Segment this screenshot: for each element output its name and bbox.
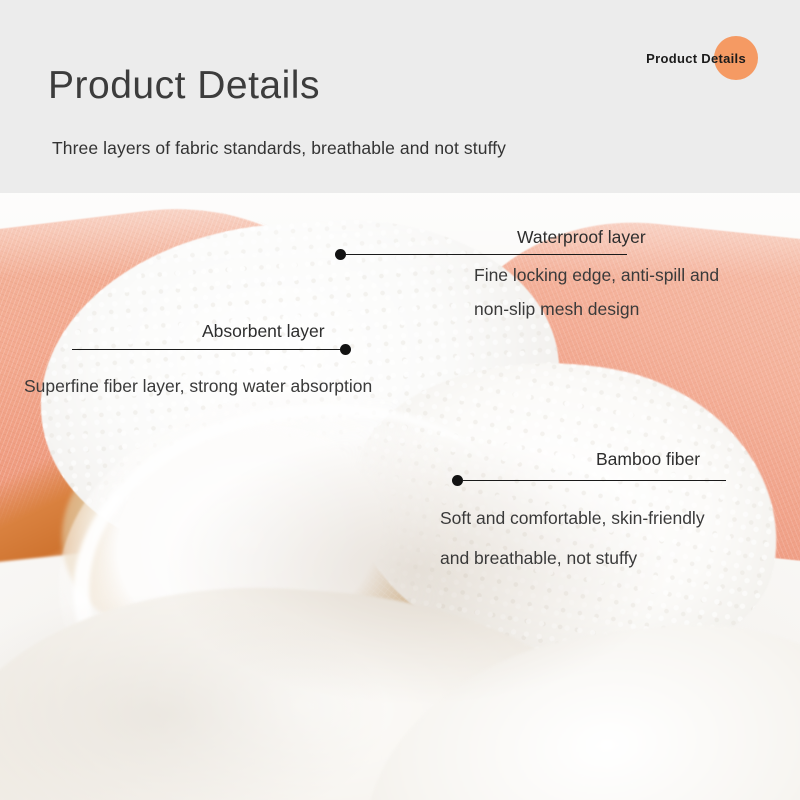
- product-detail-infographic: Product Details Product Details Three la…: [0, 0, 800, 800]
- callout-leader-line: [345, 254, 627, 255]
- callout-heading: Absorbent layer: [202, 321, 325, 342]
- callout-body-line: Superfine fiber layer, strong water abso…: [24, 367, 372, 405]
- page-title: Product Details: [48, 64, 320, 108]
- callout-body-line: non-slip mesh design: [474, 290, 639, 328]
- callout-body-line: Fine locking edge, anti-spill and: [474, 256, 719, 294]
- callout-body-line: and breathable, not stuffy: [440, 539, 637, 577]
- badge-label: Product Details: [646, 51, 782, 66]
- callout-marker-dot-icon: [340, 344, 351, 355]
- product-details-badge: Product Details: [646, 36, 782, 80]
- callout-body-line: Soft and comfortable, skin-friendly: [440, 499, 705, 537]
- callout-heading: Bamboo fiber: [596, 449, 700, 470]
- callout-heading: Waterproof layer: [517, 227, 646, 248]
- page-subtitle: Three layers of fabric standards, breath…: [52, 138, 506, 159]
- callout-leader-line: [72, 349, 348, 350]
- callout-leader-line: [462, 480, 726, 481]
